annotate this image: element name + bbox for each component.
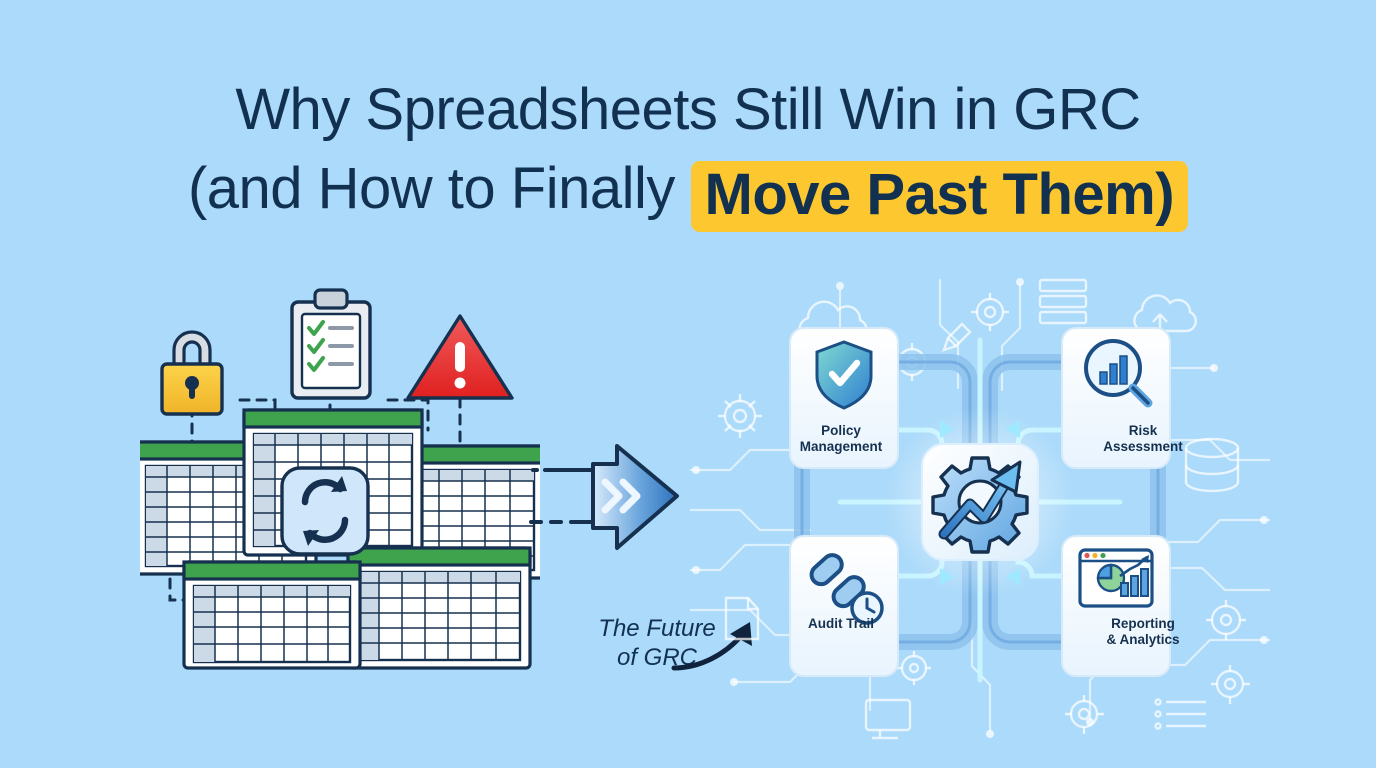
database-cylinder-icon [1186, 439, 1238, 491]
arrow-dashed-tails [531, 470, 599, 522]
title-highlight: Move Past Them) [691, 161, 1189, 232]
pen-icon [944, 324, 970, 350]
gear-outline-icon [1206, 600, 1246, 640]
transition-arrow [525, 438, 700, 558]
gear-outline-icon [1065, 695, 1104, 734]
title-line-2-plain: (and How to Finally [188, 156, 691, 221]
gear-outline-icon [718, 394, 762, 438]
monitor-icon [866, 700, 910, 738]
grc-card-reporting-analytics[interactable] [1062, 536, 1170, 676]
spreadsheet-chaos-illustration [140, 280, 540, 670]
title-line-1-text: Why Spreadsheets Still Win in GRC [235, 77, 1140, 142]
warning-triangle-icon [408, 316, 512, 398]
clipboard-checklist-icon [292, 290, 370, 398]
spreadsheet-bottom-left [184, 562, 360, 668]
grc-hub[interactable] [922, 444, 1038, 560]
document-icon [726, 598, 758, 639]
spreadsheet-bottom-right [348, 548, 530, 668]
grc-card-risk-assessment[interactable] [1062, 328, 1170, 468]
grc-platform-illustration [690, 270, 1270, 740]
poster-canvas: Why Spreadsheets Still Win in GRC (and H… [0, 0, 1376, 768]
server-stack-icon [1040, 280, 1086, 323]
title-line-1: Why Spreadsheets Still Win in GRC [0, 78, 1376, 143]
list-lines-icon [1156, 700, 1207, 729]
dashboard-charts-icon [1080, 550, 1152, 606]
gear-outline-icon [897, 651, 931, 685]
grc-card-audit-trail[interactable] [790, 536, 898, 676]
gear-outline-icon [971, 293, 1009, 331]
lock-icon [162, 332, 222, 414]
gear-growth-icon [933, 458, 1027, 552]
gear-outline-icon [1211, 665, 1250, 704]
title-line-2: (and How to Finally Move Past Them) [0, 155, 1376, 226]
page-title: Why Spreadsheets Still Win in GRC (and H… [0, 78, 1376, 226]
sync-refresh-icon [282, 468, 368, 554]
grc-card-policy-management[interactable] [790, 328, 898, 468]
